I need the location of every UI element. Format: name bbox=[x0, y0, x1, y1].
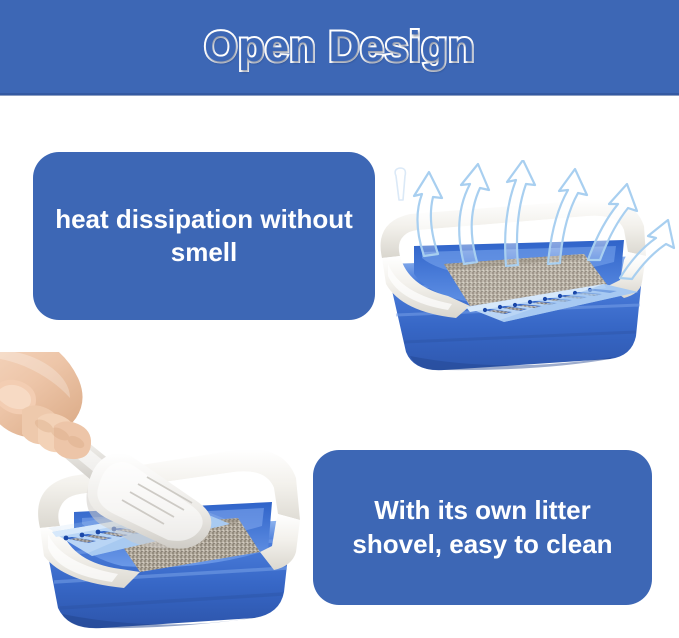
page-title: Open Design bbox=[0, 0, 679, 95]
hand bbox=[0, 352, 91, 459]
callout-shovel-text: With its own litter shovel, easy to clea… bbox=[329, 494, 636, 561]
callout-heat-dissipation: heat dissipation without smell bbox=[33, 152, 375, 320]
shovel-handle-tip bbox=[395, 168, 405, 200]
callout-litter-shovel: With its own litter shovel, easy to clea… bbox=[313, 450, 652, 605]
product-photo-hand-with-scoop bbox=[0, 352, 332, 638]
hand-scoop-litter-box-illustration bbox=[0, 352, 332, 638]
callout-heat-text: heat dissipation without smell bbox=[53, 203, 355, 270]
product-photo-litter-box-airflow bbox=[352, 160, 679, 375]
infographic-page: Open Design bbox=[0, 0, 679, 638]
litter-box-airflow-illustration bbox=[352, 160, 679, 375]
